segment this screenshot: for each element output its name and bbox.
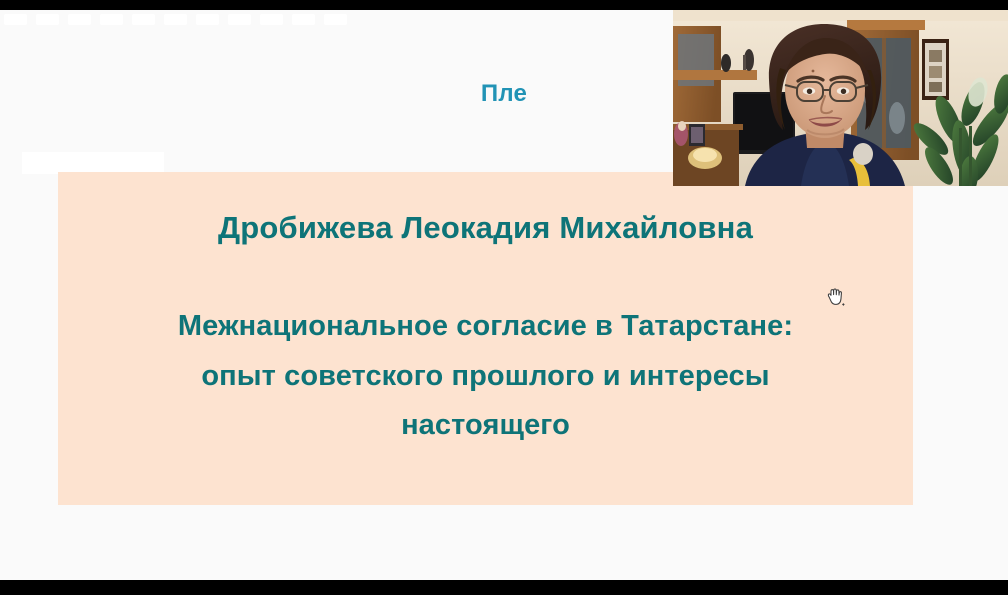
slide-content-card: Дробижева Леокадия Михайловна Межнациона… — [58, 172, 913, 505]
talk-title-line-2: опыт советского прошлого и интересы — [88, 352, 883, 402]
letterbox-bar-bottom — [0, 580, 1008, 595]
screen-share-viewport: Пле Дробижева Леокадия Михайловна Межнац… — [0, 0, 1008, 595]
ghost-toolbar-chip — [260, 14, 283, 25]
ghost-toolbar-chip — [132, 14, 155, 25]
ghost-toolbar-chip — [100, 14, 123, 25]
ghost-toolbar-chip — [36, 14, 59, 25]
ghost-toolbar-chip — [196, 14, 219, 25]
ghost-toolbar-chip — [164, 14, 187, 25]
ghost-toolbar-chip — [4, 14, 27, 25]
letterbox-bar-top — [0, 0, 1008, 10]
grab-hand-cursor-icon — [824, 285, 846, 309]
ghost-toolbar-chip — [324, 14, 347, 25]
presenter-name: Дробижева Леокадия Михайловна — [88, 210, 883, 246]
talk-title-line-3: настоящего — [88, 401, 883, 451]
ghost-toolbar-chip — [68, 14, 91, 25]
speaker-webcam-tile[interactable] — [673, 8, 1008, 186]
ghost-panel — [22, 152, 164, 174]
ghost-toolbar-chip — [228, 14, 251, 25]
talk-title-line-1: Межнациональное согласие в Татарстане: — [88, 302, 883, 352]
ghost-toolbar — [0, 14, 460, 28]
talk-title: Межнациональное согласие в Татарстане: о… — [88, 302, 883, 452]
ghost-toolbar-chip — [292, 14, 315, 25]
